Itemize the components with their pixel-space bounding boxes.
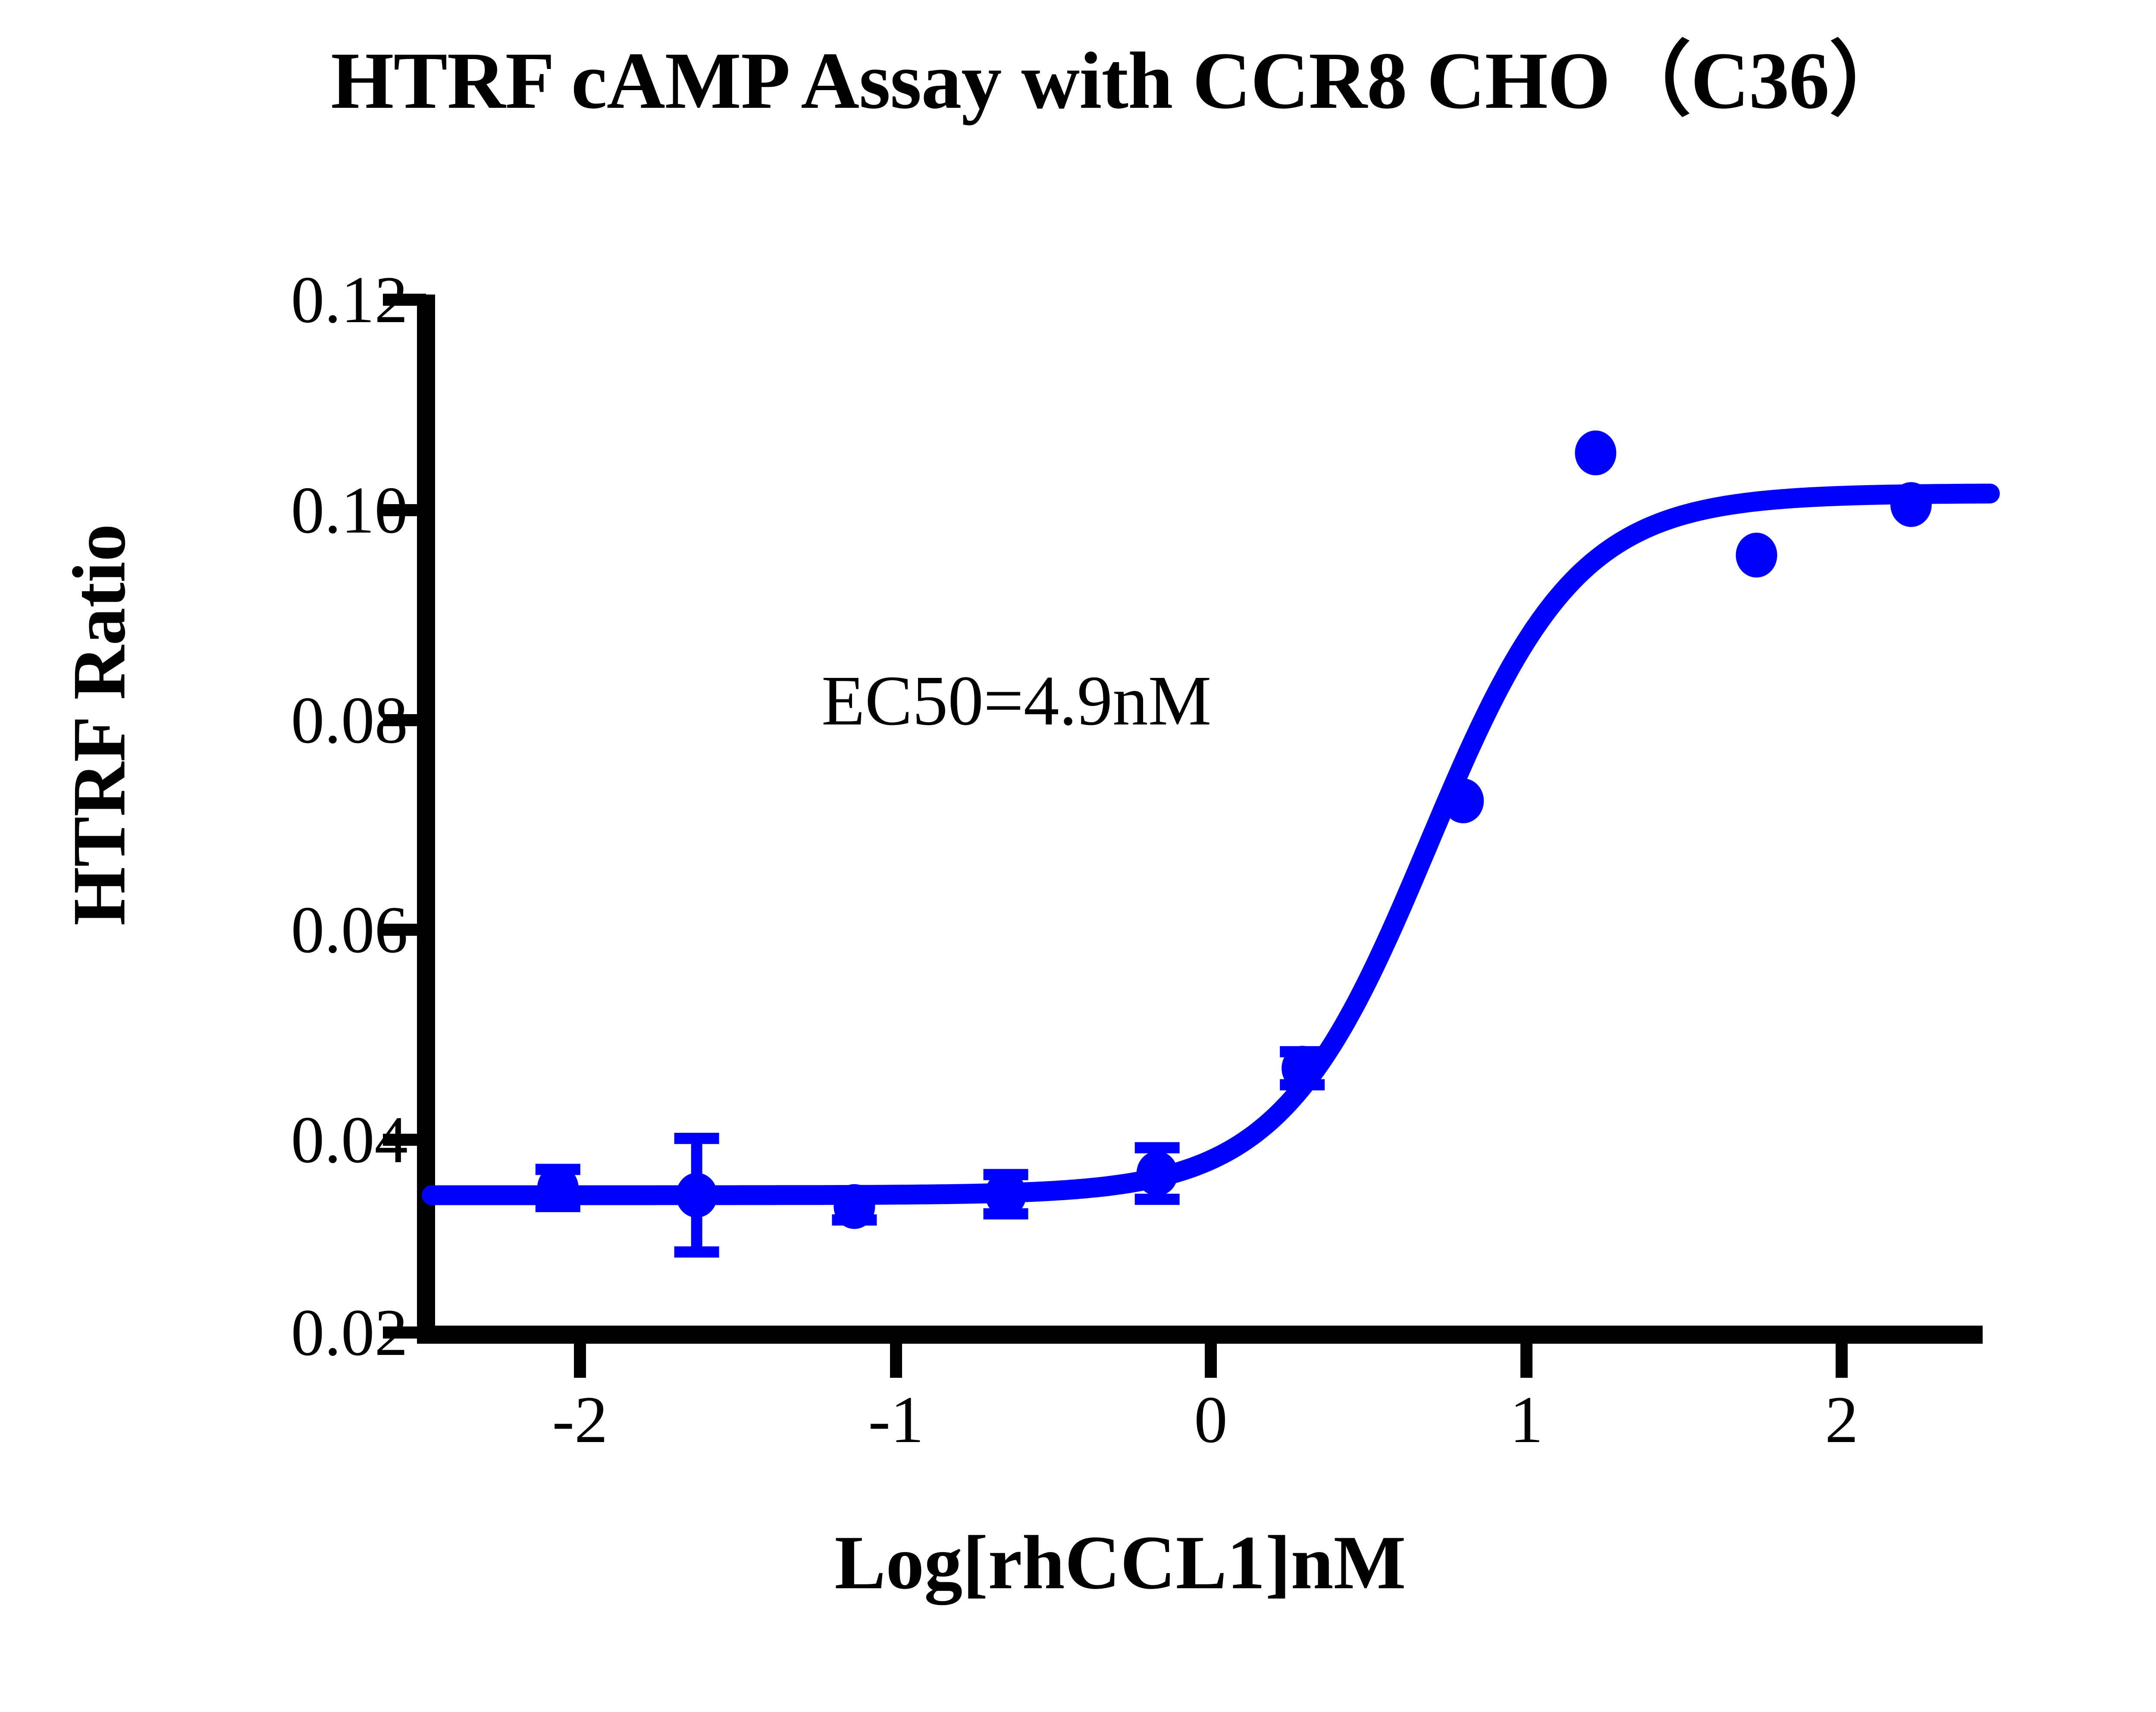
- data-point: [1137, 1151, 1178, 1196]
- data-point: [985, 1172, 1027, 1217]
- data-point: [1736, 533, 1777, 577]
- chart-figure: HTRF cAMP Assay with CCR8 CHO（C36） HTRF …: [0, 0, 2156, 1712]
- data-point: [676, 1173, 718, 1218]
- fit-curve: [432, 494, 1990, 1195]
- axis-ticks: [383, 300, 1842, 1378]
- plot-canvas: [0, 0, 2156, 1712]
- data-point: [1442, 778, 1484, 823]
- data-point: [537, 1166, 579, 1210]
- fit-curve-path: [432, 494, 1990, 1195]
- data-points: [537, 430, 1932, 1229]
- axis-lines: [417, 295, 1983, 1335]
- data-point: [1575, 430, 1616, 475]
- data-point: [834, 1184, 875, 1229]
- data-point: [1282, 1046, 1323, 1091]
- data-point: [1890, 482, 1932, 527]
